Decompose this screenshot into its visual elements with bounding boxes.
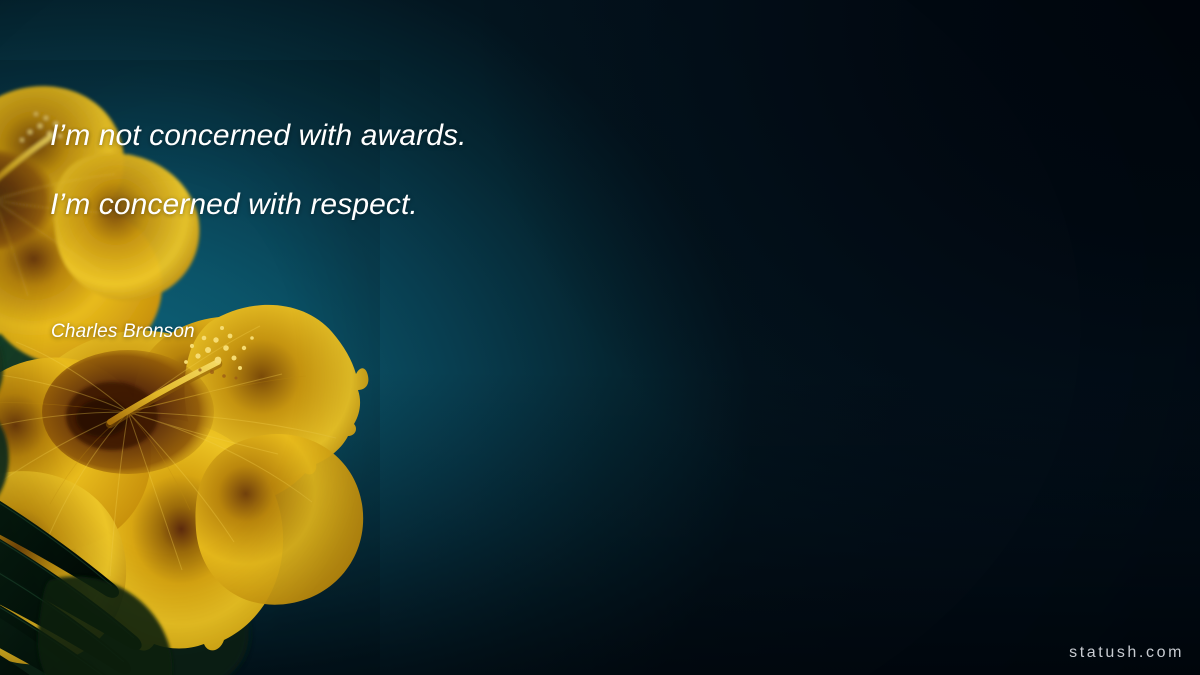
quote-line-1: I’m not concerned with awards. [50,118,810,154]
quote-card: I’m not concerned with awards. I’m conce… [0,0,1200,675]
quote-author: Charles Bronson [51,321,195,343]
quote-line-2: I’m concerned with respect. [50,187,810,223]
quote-text-block: I’m not concerned with awards. I’m conce… [50,118,810,223]
site-watermark: statush.com [1069,644,1184,662]
